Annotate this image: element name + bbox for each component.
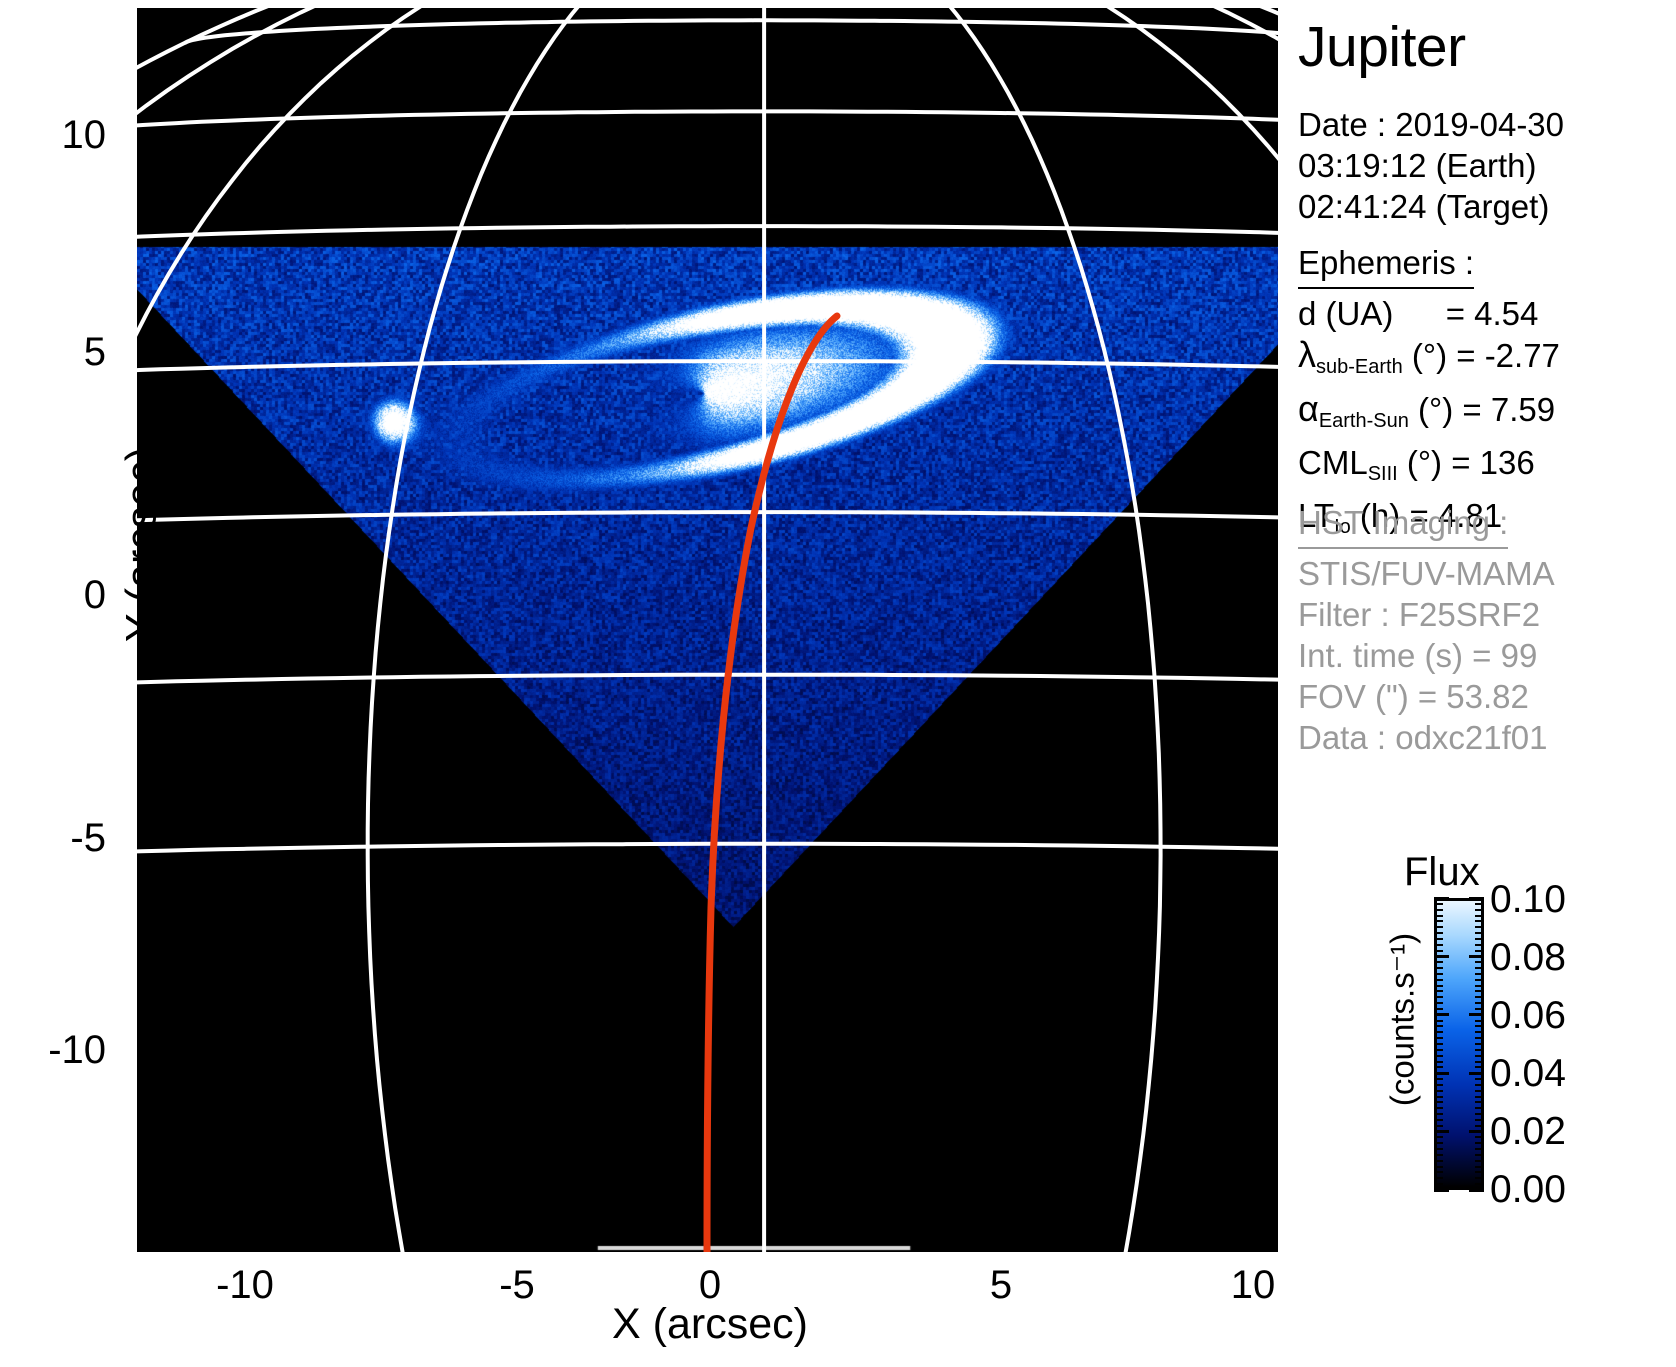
colorbar-label-2: 0.06 (1490, 996, 1566, 1035)
colorbar-minor-tick (1475, 961, 1484, 963)
colorbar-minor-tick (1434, 1142, 1443, 1144)
colorbar-minor-tick (1475, 920, 1484, 922)
colorbar-minor-tick (1434, 967, 1443, 969)
colorbar-minor-tick (1475, 1160, 1484, 1162)
colorbar-minor-tick (1475, 1183, 1484, 1185)
colorbar-minor-tick (1434, 1113, 1443, 1115)
colorbar-minor-tick (1475, 1008, 1484, 1010)
x-tick-label-minus10: -10 (195, 1265, 295, 1305)
ephemeris-heading-text: Ephemeris : (1298, 242, 1474, 289)
colorbar-minor-tick (1475, 926, 1484, 928)
colorbar-minor-tick (1475, 1066, 1484, 1068)
alpha-value: = 7.59 (1462, 391, 1555, 428)
obs-date: Date : 2019-04-30 (1298, 104, 1564, 145)
hst-int-time: Int. time (s) = 99 (1298, 635, 1555, 676)
distance-label: d (UA) (1298, 295, 1393, 332)
ephemeris-alpha: αEarth-Sun (°) = 7.59 (1298, 388, 1560, 442)
colorbar-minor-tick (1434, 1025, 1443, 1027)
colorbar-minor-tick (1434, 1154, 1443, 1156)
lambda-unit: (°) (1412, 337, 1447, 374)
colorbar-minor-tick (1475, 1031, 1484, 1033)
colorbar-major-tick (1469, 1189, 1484, 1192)
colorbar-minor-tick (1475, 944, 1484, 946)
y-tick-label-5: 5 (28, 332, 106, 372)
colorbar-major-tick (1469, 1072, 1484, 1075)
colorbar-major-tick (1434, 955, 1449, 958)
colorbar-minor-tick (1475, 1043, 1484, 1045)
colorbar-minor-tick (1475, 1096, 1484, 1098)
colorbar-minor-tick (1434, 1049, 1443, 1051)
hst-heading-text: HST Imaging : (1298, 502, 1508, 549)
colorbar-label-4: 0.02 (1490, 1112, 1566, 1151)
colorbar-minor-tick (1434, 1055, 1443, 1057)
io-footprint-curve (707, 316, 837, 1252)
colorbar-minor-tick (1475, 996, 1484, 998)
colorbar-minor-tick (1434, 1008, 1443, 1010)
colorbar-label-0: 0.10 (1490, 880, 1566, 919)
colorbar-minor-tick (1434, 932, 1443, 934)
colorbar-minor-tick (1475, 1142, 1484, 1144)
colorbar-minor-tick (1475, 1101, 1484, 1103)
x-tick-label-5: 5 (951, 1265, 1051, 1305)
colorbar-major-tick (1434, 1189, 1449, 1192)
observation-date-block: Date : 2019-04-30 03:19:12 (Earth) 02:41… (1298, 104, 1564, 227)
colorbar-units-label: (counts.s⁻¹) (1383, 870, 1422, 1170)
hst-heading: HST Imaging : (1298, 502, 1555, 553)
colorbar-major-tick (1434, 897, 1449, 900)
colorbar-minor-tick (1475, 1107, 1484, 1109)
colorbar-minor-tick (1434, 1002, 1443, 1004)
cml-unit: (°) (1407, 444, 1442, 481)
colorbar-minor-tick (1434, 1090, 1443, 1092)
colorbar-minor-tick (1434, 973, 1443, 975)
cml-subscript: SIII (1368, 463, 1398, 485)
alpha-subscript: Earth-Sun (1319, 410, 1409, 432)
hst-data-id: Data : odxc21f01 (1298, 717, 1555, 758)
alpha-unit: (°) (1418, 391, 1453, 428)
colorbar-minor-tick (1475, 903, 1484, 905)
target-title: Jupiter (1298, 14, 1466, 80)
colorbar-minor-tick (1434, 961, 1443, 963)
colorbar-minor-tick (1434, 1160, 1443, 1162)
colorbar-minor-tick (1434, 920, 1443, 922)
colorbar-minor-tick (1475, 950, 1484, 952)
hst-fov: FOV (") = 53.82 (1298, 676, 1555, 717)
colorbar-minor-tick (1475, 1055, 1484, 1057)
colorbar-major-tick (1434, 1072, 1449, 1075)
colorbar-minor-tick (1434, 1066, 1443, 1068)
cml-value: = 136 (1451, 444, 1535, 481)
colorbar-minor-tick (1475, 990, 1484, 992)
colorbar-minor-tick (1434, 1101, 1443, 1103)
colorbar-minor-tick (1434, 1148, 1443, 1150)
colorbar-minor-tick (1434, 950, 1443, 952)
colorbar-minor-tick (1434, 903, 1443, 905)
colorbar-minor-tick (1475, 967, 1484, 969)
colorbar-minor-tick (1475, 1119, 1484, 1121)
colorbar-minor-tick (1434, 1107, 1443, 1109)
colorbar-minor-tick (1475, 1171, 1484, 1173)
colorbar-label-3: 0.04 (1490, 1054, 1566, 1093)
planet-grid-overlay (137, 8, 1278, 1252)
colorbar-minor-tick (1434, 1061, 1443, 1063)
colorbar-minor-tick (1434, 926, 1443, 928)
colorbar-minor-tick (1475, 1166, 1484, 1168)
colorbar-label-5: 0.00 (1490, 1170, 1566, 1209)
colorbar-minor-tick (1475, 1002, 1484, 1004)
colorbar-major-tick (1469, 955, 1484, 958)
alpha-symbol: α (1298, 388, 1319, 429)
colorbar-minor-tick (1434, 1119, 1443, 1121)
colorbar-minor-tick (1475, 1049, 1484, 1051)
lambda-value: = -2.77 (1456, 337, 1560, 374)
colorbar-minor-tick (1475, 909, 1484, 911)
x-axis-title: X (arcsec) (560, 1300, 860, 1349)
lambda-symbol: λ (1298, 334, 1316, 375)
colorbar-minor-tick (1475, 1136, 1484, 1138)
x-tick-label-0: 0 (660, 1265, 760, 1305)
colorbar-ticks (1434, 898, 1484, 1190)
hst-imaging-block: HST Imaging : STIS/FUV-MAMA Filter : F25… (1298, 502, 1555, 758)
lambda-subscript: sub-Earth (1316, 356, 1403, 378)
colorbar-major-tick (1469, 1130, 1484, 1133)
colorbar-minor-tick (1434, 938, 1443, 940)
colorbar-minor-tick (1475, 1125, 1484, 1127)
colorbar-major-tick (1434, 1130, 1449, 1133)
colorbar-minor-tick (1475, 973, 1484, 975)
colorbar-minor-tick (1434, 985, 1443, 987)
ephemeris-cml: CMLSIII (°) = 136 (1298, 442, 1560, 495)
colorbar-minor-tick (1434, 915, 1443, 917)
colorbar-minor-tick (1434, 996, 1443, 998)
colorbar-minor-tick (1475, 1025, 1484, 1027)
colorbar-label-1: 0.08 (1490, 938, 1566, 977)
colorbar-minor-tick (1475, 932, 1484, 934)
colorbar-minor-tick (1434, 1084, 1443, 1086)
x-tick-label-minus5: -5 (467, 1265, 567, 1305)
y-tick-label-minus5: -5 (28, 818, 106, 858)
colorbar-minor-tick (1475, 938, 1484, 940)
colorbar-minor-tick (1434, 1177, 1443, 1179)
colorbar-minor-tick (1475, 1020, 1484, 1022)
colorbar-major-tick (1434, 1013, 1449, 1016)
colorbar-minor-tick (1434, 909, 1443, 911)
colorbar-minor-tick (1434, 1078, 1443, 1080)
colorbar-minor-tick (1475, 1061, 1484, 1063)
y-axis-title: Y (arcsec) (118, 395, 167, 695)
colorbar-minor-tick (1434, 1166, 1443, 1168)
obs-time-earth: 03:19:12 (Earth) (1298, 145, 1564, 186)
colorbar-minor-tick (1475, 1154, 1484, 1156)
x-tick-label-10: 10 (1203, 1265, 1303, 1305)
y-tick-label-0: 0 (28, 575, 106, 615)
colorbar-minor-tick (1475, 1037, 1484, 1039)
colorbar-minor-tick (1475, 1090, 1484, 1092)
y-tick-label-10: 10 (28, 115, 106, 155)
colorbar-minor-tick (1475, 979, 1484, 981)
hst-instrument: STIS/FUV-MAMA (1298, 553, 1555, 594)
colorbar-minor-tick (1434, 1096, 1443, 1098)
observation-info-panel: Jupiter Date : 2019-04-30 03:19:12 (Eart… (1298, 0, 1676, 1367)
colorbar-minor-tick (1475, 1084, 1484, 1086)
colorbar-minor-tick (1434, 1136, 1443, 1138)
colorbar-minor-tick (1434, 1020, 1443, 1022)
colorbar-minor-tick (1475, 1177, 1484, 1179)
ephemeris-lambda: λsub-Earth (°) = -2.77 (1298, 334, 1560, 388)
colorbar-minor-tick (1475, 1148, 1484, 1150)
colorbar-minor-tick (1434, 979, 1443, 981)
colorbar-minor-tick (1434, 1183, 1443, 1185)
colorbar-minor-tick (1434, 1125, 1443, 1127)
ephemeris-heading: Ephemeris : (1298, 242, 1560, 293)
colorbar-minor-tick (1475, 1078, 1484, 1080)
colorbar-major-tick (1469, 1013, 1484, 1016)
colorbar-minor-tick (1475, 915, 1484, 917)
hst-filter: Filter : F25SRF2 (1298, 594, 1555, 635)
colorbar-minor-tick (1434, 1043, 1443, 1045)
colorbar-minor-tick (1434, 1037, 1443, 1039)
distance-value: = 4.54 (1446, 295, 1539, 332)
aurora-image-plot (137, 8, 1278, 1252)
cml-symbol: CML (1298, 444, 1368, 481)
colorbar-minor-tick (1434, 990, 1443, 992)
colorbar-minor-tick (1475, 1113, 1484, 1115)
ephemeris-distance: d (UA) = 4.54 (1298, 293, 1560, 334)
colorbar-minor-tick (1475, 985, 1484, 987)
obs-time-target: 02:41:24 (Target) (1298, 186, 1564, 227)
colorbar-minor-tick (1434, 1171, 1443, 1173)
colorbar-minor-tick (1434, 1031, 1443, 1033)
colorbar-minor-tick (1434, 944, 1443, 946)
y-tick-label-minus10: -10 (28, 1030, 106, 1070)
colorbar-major-tick (1469, 897, 1484, 900)
